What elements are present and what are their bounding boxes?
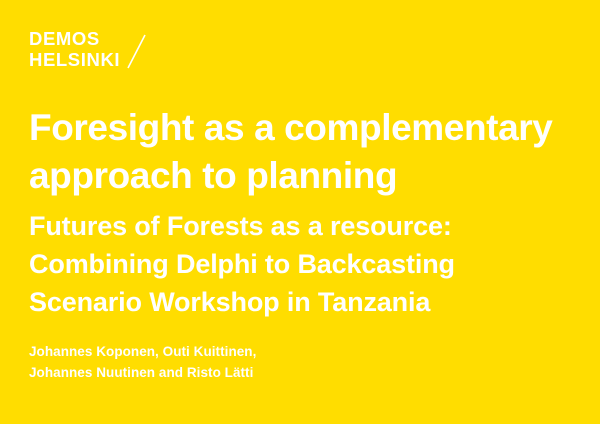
page-title: Foresight as a complementary approach to… [29, 104, 585, 200]
author-list: Johannes Koponen, Outi Kuittinen, Johann… [29, 341, 585, 383]
subtitle-line-2: Combining Delphi to Backcasting [29, 245, 585, 283]
logo-line-helsinki: HELSINKI [29, 49, 159, 70]
demos-helsinki-logo: DEMOS HELSINKI [29, 28, 159, 74]
subtitle-line-3: Scenario Workshop in Tanzania [29, 283, 585, 321]
title-line-1: Foresight as a complementary [29, 104, 585, 152]
author-line-1: Johannes Koponen, Outi Kuittinen, [29, 341, 585, 362]
title-line-2: approach to planning [29, 152, 585, 200]
logo-line-demos: DEMOS [29, 28, 159, 49]
author-line-2: Johannes Nuutinen and Risto Lätti [29, 362, 585, 383]
subtitle-line-1: Futures of Forests as a resource: [29, 207, 585, 245]
presentation-slide: DEMOS HELSINKI Foresight as a complement… [0, 0, 600, 424]
page-subtitle: Futures of Forests as a resource: Combin… [29, 207, 585, 321]
